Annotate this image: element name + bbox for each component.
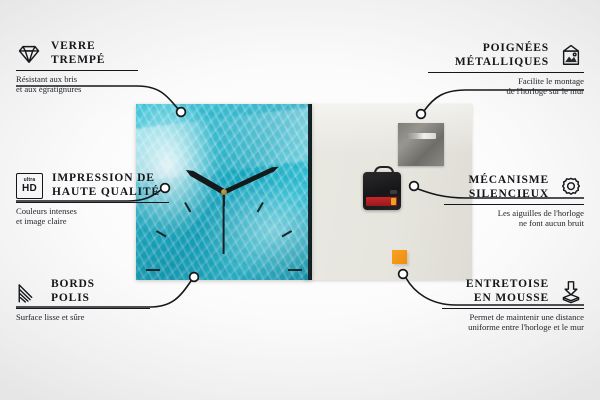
diamond-icon — [16, 41, 42, 67]
ultra-hd-icon-big-text: HD — [22, 184, 37, 194]
divider — [444, 204, 584, 205]
clock-minute-hand — [223, 164, 279, 194]
clock-mechanism-box — [363, 172, 401, 210]
feature-title: BORDS POLIS — [51, 278, 95, 305]
feature-subtitle: Permet de maintenir une distance uniform… — [442, 312, 584, 333]
clock-tick — [184, 202, 191, 213]
clock-tick — [156, 230, 167, 237]
battery — [366, 197, 397, 206]
feature-verre-trempe[interactable]: VERRE TREMPÉ Résistant aux bris et aux é… — [16, 40, 138, 95]
feature-poignees-metalliques[interactable]: POIGNÉES MÉTALLIQUES Facilite le montage… — [428, 42, 584, 97]
metal-hanger-plate — [398, 123, 444, 166]
feature-heading: POIGNÉES MÉTALLIQUES — [428, 42, 584, 69]
polished-edges-icon — [16, 279, 42, 305]
clock-frame-edge — [308, 104, 312, 280]
gear-icon — [558, 175, 584, 201]
feature-mecanisme-silencieux[interactable]: MÉCANISME SILENCIEUX Les aiguilles de l'… — [444, 174, 584, 229]
feature-subtitle: Les aiguilles de l'horloge ne font aucun… — [444, 208, 584, 229]
feature-title: IMPRESSION DE HAUTE QUALITÉ — [52, 172, 160, 199]
feature-heading: VERRE TREMPÉ — [16, 40, 138, 67]
clock-tick — [257, 202, 264, 213]
feature-title: ENTRETOISE EN MOUSSE — [466, 278, 549, 305]
clock-hour-hand — [184, 167, 225, 194]
feature-heading: BORDS POLIS — [16, 278, 150, 305]
divider — [16, 202, 169, 203]
clock-tick — [288, 269, 302, 271]
feature-entretoise-en-mousse[interactable]: ENTRETOISE EN MOUSSE Permet de maintenir… — [442, 278, 584, 333]
clock-tick — [282, 230, 293, 237]
hanging-frame-icon — [558, 43, 584, 69]
feature-bords-polis[interactable]: BORDS POLIS Surface lisse et sûre — [16, 278, 150, 322]
divider — [16, 70, 138, 71]
divider — [428, 72, 584, 73]
clock-tick — [146, 269, 160, 271]
divider — [16, 308, 150, 309]
feature-subtitle: Surface lisse et sûre — [16, 312, 150, 322]
feature-subtitle: Facilite le montage de l'horloge sur le … — [428, 76, 584, 97]
feature-heading: MÉCANISME SILENCIEUX — [444, 174, 584, 201]
feature-heading: ultra HD IMPRESSION DE HAUTE QUALITÉ — [16, 172, 169, 199]
clock-second-hand — [223, 192, 225, 254]
feature-impression-haute-qualite[interactable]: ultra HD IMPRESSION DE HAUTE QUALITÉ Cou… — [16, 172, 169, 227]
feature-subtitle: Résistant aux bris et aux égratignures — [16, 74, 138, 95]
feature-title: POIGNÉES MÉTALLIQUES — [455, 42, 549, 69]
hanging-loop — [374, 166, 394, 176]
foam-spacer — [392, 250, 407, 264]
ultra-hd-icon: ultra HD — [16, 173, 43, 199]
feature-subtitle: Couleurs intenses et image claire — [16, 206, 169, 227]
press-down-icon — [558, 279, 584, 305]
feature-title: MÉCANISME SILENCIEUX — [469, 174, 550, 201]
hanger-slot — [406, 133, 436, 139]
divider — [442, 308, 584, 309]
feature-heading: ENTRETOISE EN MOUSSE — [442, 278, 584, 305]
mechanism-dial — [390, 190, 397, 194]
ultra-hd-icon-small-text: ultra — [24, 178, 36, 183]
product-image — [136, 104, 472, 280]
feature-title: VERRE TREMPÉ — [51, 40, 105, 67]
infographic-canvas: VERRE TREMPÉ Résistant aux bris et aux é… — [0, 0, 600, 400]
clock-center-cap — [221, 189, 227, 195]
